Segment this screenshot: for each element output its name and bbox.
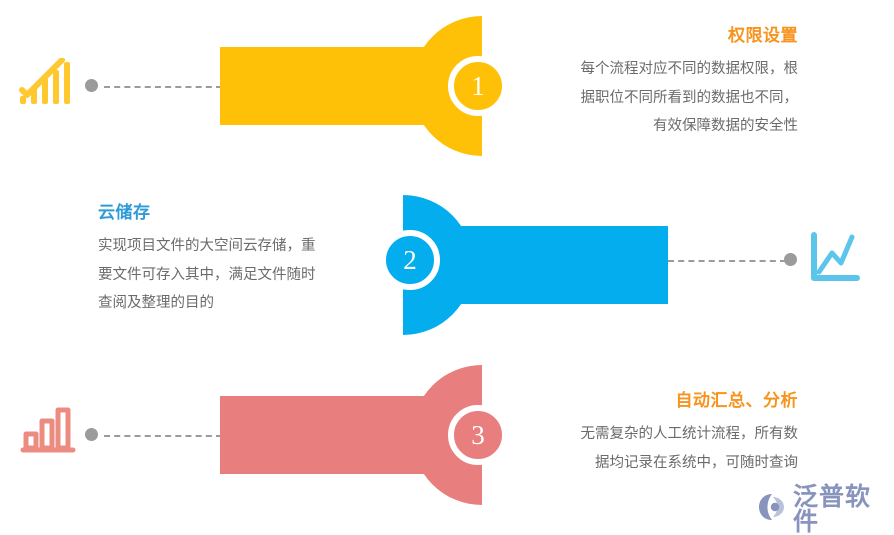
section-title-3: 自动汇总、分析	[520, 391, 798, 411]
section-title-1: 权限设置	[520, 26, 798, 46]
logo-company-name: 泛普软件	[793, 484, 894, 534]
banner-arrow-2	[400, 190, 670, 340]
step-number-badge-2: 2	[380, 230, 440, 290]
section-text-1: 权限设置 每个流程对应不同的数据权限，根 据职位不同所看到的数据也不同， 有效保…	[520, 26, 798, 140]
step-number-badge-1: 1	[448, 56, 508, 116]
bar-chart-icon	[20, 404, 76, 456]
line-chart-icon	[808, 232, 860, 284]
step-number-3: 3	[471, 422, 485, 449]
signal-bars-growth-icon	[18, 58, 74, 108]
section-title-2: 云储存	[98, 203, 376, 223]
section-body-line-2-1: 实现项目文件的大空间云存储，重	[98, 232, 376, 260]
connector-line-1	[104, 86, 222, 88]
step-number-badge-3: 3	[448, 405, 508, 465]
section-body-line-1-3: 有效保障数据的安全性	[520, 112, 798, 140]
section-text-2: 云储存 实现项目文件的大空间云存储，重 要文件可存入其中，满足文件随时 查阅及整…	[98, 203, 376, 317]
section-body-line-3-2: 据均记录在系统中，可随时查询	[520, 449, 798, 477]
fanpu-swoosh-logo-icon	[758, 493, 788, 526]
infographic-canvas: 1 权限设置 每个流程对应不同的数据权限，根 据职位不同所看到的数据也不同， 有…	[0, 0, 894, 535]
connector-dot-2	[784, 253, 797, 266]
section-body-line-1-1: 每个流程对应不同的数据权限，根	[520, 55, 798, 83]
connector-dot-1	[85, 79, 98, 92]
section-body-line-2-3: 查阅及整理的目的	[98, 289, 376, 317]
section-text-3: 自动汇总、分析 无需复杂的人工统计流程，所有数 据均记录在系统中，可随时查询	[520, 391, 798, 477]
step-number-2: 2	[403, 247, 417, 274]
banner-arrow-3	[220, 357, 485, 517]
section-body-line-2-2: 要文件可存入其中，满足文件随时	[98, 261, 376, 289]
connector-line-3	[104, 435, 222, 437]
section-body-line-1-2: 据职位不同所看到的数据也不同，	[520, 84, 798, 112]
connector-line-2	[668, 260, 786, 262]
step-number-1: 1	[471, 73, 485, 100]
section-body-line-3-1: 无需复杂的人工统计流程，所有数	[520, 420, 798, 448]
brand-logo: 泛普软件 www.fanpusoft.com	[758, 484, 894, 535]
banner-arrow-1	[220, 8, 485, 168]
connector-dot-3	[85, 428, 98, 441]
